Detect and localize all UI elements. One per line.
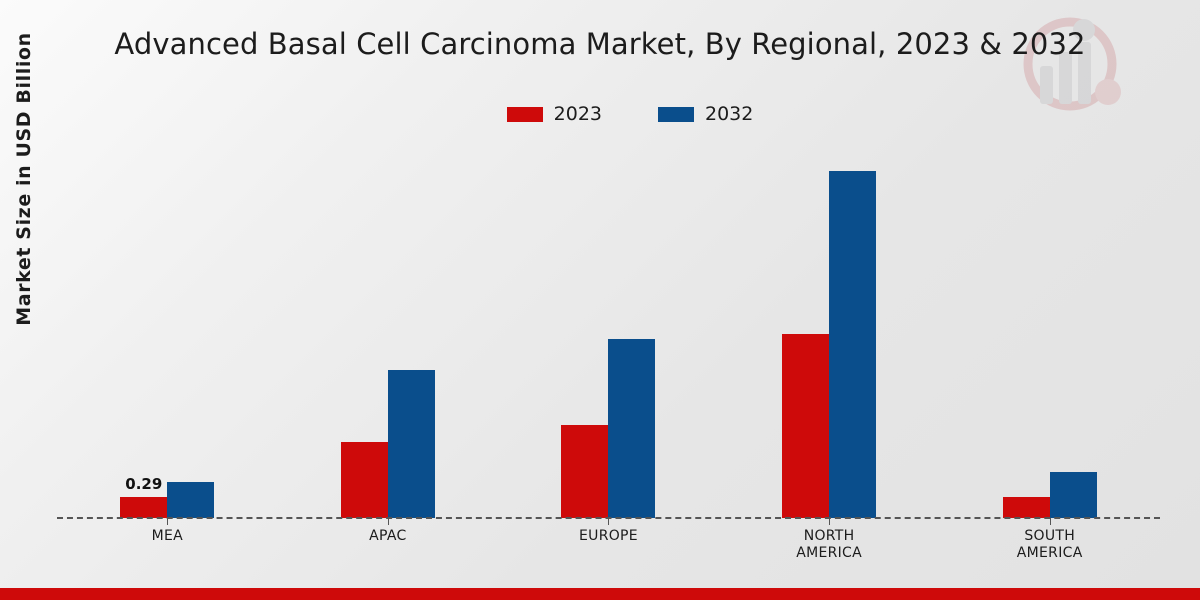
x-axis-tick-label: EUROPE bbox=[579, 528, 638, 545]
bar-group: EUROPE bbox=[498, 150, 719, 518]
bar-pair bbox=[939, 150, 1160, 518]
x-axis-tick-label: MEA bbox=[152, 528, 183, 545]
plot-area: 0.29MEAAPACEUROPENORTHAMERICASOUTHAMERIC… bbox=[57, 150, 1160, 518]
bar-north-america-2032[interactable] bbox=[829, 171, 876, 518]
bar-pair bbox=[498, 150, 719, 518]
bar-group: 0.29MEA bbox=[57, 150, 278, 518]
bar-mea-2032[interactable] bbox=[167, 482, 214, 518]
bar-mea-2023[interactable] bbox=[120, 497, 167, 518]
x-axis-tick-mark bbox=[829, 518, 830, 525]
legend-label-2032: 2032 bbox=[705, 103, 753, 125]
legend-item-2023[interactable]: 2023 bbox=[507, 103, 602, 125]
x-axis-tick-mark bbox=[167, 518, 168, 525]
bar-group: SOUTHAMERICA bbox=[939, 150, 1160, 518]
x-axis-tick-mark bbox=[388, 518, 389, 525]
bar-pair bbox=[57, 150, 278, 518]
chart-figure: Advanced Basal Cell Carcinoma Market, By… bbox=[0, 0, 1200, 600]
x-axis-tick-label: SOUTHAMERICA bbox=[1017, 528, 1083, 562]
bar-europe-2023[interactable] bbox=[561, 425, 608, 518]
tick-label-line2: AMERICA bbox=[796, 545, 862, 561]
legend-label-2023: 2023 bbox=[554, 103, 602, 125]
legend-swatch-2023 bbox=[507, 107, 543, 122]
bar-apac-2023[interactable] bbox=[341, 442, 388, 518]
tick-label-line1: APAC bbox=[369, 528, 406, 544]
bar-group: NORTHAMERICA bbox=[719, 150, 940, 518]
bar-north-america-2023[interactable] bbox=[782, 334, 829, 518]
x-axis-tick-mark bbox=[608, 518, 609, 525]
legend-swatch-2032 bbox=[658, 107, 694, 122]
tick-label-line2: AMERICA bbox=[1017, 545, 1083, 561]
y-axis-title: Market Size in USD Billion bbox=[13, 0, 35, 369]
bar-pair bbox=[278, 150, 499, 518]
x-axis-tick-label: NORTHAMERICA bbox=[796, 528, 862, 562]
bar-apac-2032[interactable] bbox=[388, 370, 435, 518]
tick-label-line1: EUROPE bbox=[579, 528, 638, 544]
x-axis-tick-label: APAC bbox=[369, 528, 406, 545]
bar-europe-2032[interactable] bbox=[608, 339, 655, 518]
tick-label-line1: SOUTH bbox=[1024, 528, 1075, 544]
tick-label-line1: MEA bbox=[152, 528, 183, 544]
bar-group: APAC bbox=[278, 150, 499, 518]
bar-south-america-2032[interactable] bbox=[1050, 472, 1097, 518]
tick-label-line1: NORTH bbox=[804, 528, 855, 544]
bottom-accent-bar bbox=[0, 588, 1200, 600]
x-axis-baseline bbox=[57, 517, 1160, 519]
bar-south-america-2023[interactable] bbox=[1003, 497, 1050, 518]
x-axis-tick-mark bbox=[1050, 518, 1051, 525]
page-title: Advanced Basal Cell Carcinoma Market, By… bbox=[0, 27, 1200, 61]
chart-legend: 2023 2032 bbox=[0, 103, 1200, 125]
bar-pair bbox=[719, 150, 940, 518]
legend-item-2032[interactable]: 2032 bbox=[658, 103, 753, 125]
